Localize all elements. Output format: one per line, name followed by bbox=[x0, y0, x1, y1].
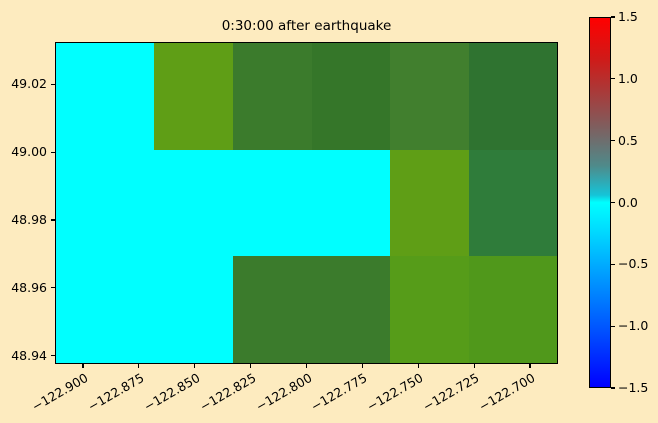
heatmap-cell bbox=[56, 256, 155, 364]
y-tick-label: 48.96 bbox=[0, 280, 47, 295]
colorbar-tick-mark bbox=[611, 16, 615, 17]
heatmap-cell bbox=[312, 256, 391, 364]
y-tick-label: 48.98 bbox=[0, 212, 47, 227]
colorbar-tick-label: −0.5 bbox=[618, 256, 648, 271]
heatmap-cell bbox=[469, 256, 558, 364]
heatmap-cell bbox=[56, 150, 155, 257]
colorbar-tick-mark bbox=[611, 78, 615, 79]
x-tick-mark bbox=[138, 364, 139, 368]
x-tick-mark bbox=[474, 364, 475, 368]
x-tick-mark bbox=[194, 364, 195, 368]
colorbar-tick-label: 1.5 bbox=[618, 9, 638, 24]
y-tick-mark bbox=[51, 152, 55, 153]
heatmap-cell bbox=[56, 43, 155, 150]
heatmap-cell bbox=[154, 256, 234, 364]
colorbar-tick-mark bbox=[611, 387, 615, 388]
colorbar-tick-mark bbox=[611, 202, 615, 203]
heatmap-cell bbox=[469, 150, 558, 257]
colorbar[interactable] bbox=[589, 17, 611, 388]
y-tick-mark bbox=[51, 355, 55, 356]
y-tick-label: 49.02 bbox=[0, 76, 47, 91]
heatmap-cell bbox=[469, 43, 558, 150]
colorbar-tick-label: 1.0 bbox=[618, 71, 638, 86]
colorbar-tick-label: −1.5 bbox=[618, 380, 648, 395]
x-tick-mark bbox=[82, 364, 83, 368]
figure-canvas: 0:30:00 after earthquake 48.9448.9648.98… bbox=[0, 0, 658, 419]
page-title: 0:30:00 after earthquake bbox=[55, 18, 558, 34]
y-tick-label: 49.00 bbox=[0, 144, 47, 159]
heatmap-cell bbox=[233, 43, 313, 150]
x-tick-mark bbox=[250, 364, 251, 368]
heatmap-axes[interactable] bbox=[55, 42, 558, 364]
y-tick-mark bbox=[51, 219, 55, 220]
heatmap-cell bbox=[233, 150, 313, 257]
colorbar-tick-label: −1.0 bbox=[618, 318, 648, 333]
heatmap-grid bbox=[56, 43, 557, 363]
x-tick-mark bbox=[362, 364, 363, 368]
heatmap-cell bbox=[312, 150, 391, 257]
colorbar-tick-mark bbox=[611, 140, 615, 141]
heatmap-cell bbox=[233, 256, 313, 364]
heatmap-cell bbox=[154, 43, 234, 150]
x-tick-mark bbox=[529, 364, 530, 368]
y-tick-mark bbox=[51, 84, 55, 85]
colorbar-tick-mark bbox=[611, 264, 615, 265]
colorbar-tick-label: 0.5 bbox=[618, 133, 638, 148]
heatmap-cell bbox=[312, 43, 391, 150]
heatmap-cell bbox=[390, 43, 470, 150]
x-tick-mark bbox=[418, 364, 419, 368]
heatmap-cell bbox=[390, 256, 470, 364]
y-tick-label: 48.94 bbox=[0, 348, 47, 363]
y-tick-mark bbox=[51, 287, 55, 288]
colorbar-tick-label: 0.0 bbox=[618, 195, 638, 210]
x-tick-mark bbox=[306, 364, 307, 368]
heatmap-cell bbox=[154, 150, 234, 257]
colorbar-tick-mark bbox=[611, 326, 615, 327]
heatmap-cell bbox=[390, 150, 470, 257]
